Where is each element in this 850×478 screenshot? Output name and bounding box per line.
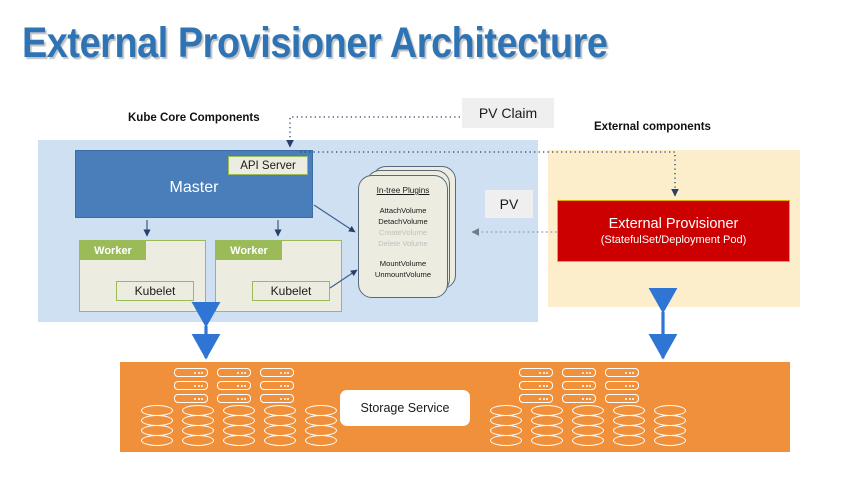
pv-claim-label: PV Claim: [462, 98, 554, 128]
server-rack-column: [260, 368, 294, 403]
plugin-op: DetachVolume: [358, 216, 448, 227]
in-tree-plugins-title: In-tree Plugins: [358, 185, 448, 196]
external-components-caption: External components: [594, 121, 711, 133]
server-rack-icon: [562, 394, 596, 403]
server-rack-icon: [217, 394, 251, 403]
plugin-op: CreateVolume: [358, 227, 448, 238]
kubelet-box-2: Kubelet: [252, 281, 330, 301]
server-rack-icon: [562, 381, 596, 390]
plugin-ops-upper: AttachVolume DetachVolume CreateVolume D…: [358, 205, 448, 249]
api-server-box: API Server: [228, 156, 308, 175]
disk-stack-icon: [613, 405, 645, 449]
disk-stack-icon: [182, 405, 214, 449]
pv-label: PV: [485, 190, 533, 218]
page-title: External Provisioner Architecture: [22, 18, 608, 68]
disk-stack-icon: [490, 405, 522, 449]
master-label: Master: [76, 179, 312, 197]
server-rack-column: [605, 368, 639, 403]
worker-node-1: Worker Kubelet: [79, 240, 206, 312]
disk-stack-icon: [264, 405, 296, 449]
server-rack-icon: [562, 368, 596, 377]
server-rack-icon: [260, 394, 294, 403]
disk-stack-group-right: [490, 405, 686, 449]
server-rack-icon: [605, 394, 639, 403]
server-rack-icon: [174, 368, 208, 377]
server-rack-icon: [605, 368, 639, 377]
disk-stack-icon: [572, 405, 604, 449]
server-rack-group-right: [519, 368, 639, 403]
server-rack-icon: [519, 381, 553, 390]
disk-stack-icon: [223, 405, 255, 449]
server-rack-icon: [217, 368, 251, 377]
diagram-canvas: External Provisioner Architecture Kube C…: [0, 0, 850, 478]
server-rack-column: [562, 368, 596, 403]
external-provisioner-subtitle: (StatefulSet/Deployment Pod): [601, 233, 747, 247]
server-rack-icon: [174, 394, 208, 403]
worker-2-header: Worker: [216, 241, 282, 260]
disk-stack-icon: [305, 405, 337, 449]
server-rack-icon: [217, 381, 251, 390]
server-rack-icon: [174, 381, 208, 390]
disk-stack-group-left: [141, 405, 337, 449]
server-rack-icon: [519, 368, 553, 377]
disk-stack-icon: [141, 405, 173, 449]
plugin-ops-spacer: [358, 249, 448, 258]
plugin-op: AttachVolume: [358, 205, 448, 216]
plugin-op: Delete Volume: [358, 238, 448, 249]
external-provisioner-box: External Provisioner (StatefulSet/Deploy…: [557, 200, 790, 262]
server-rack-group-left: [174, 368, 294, 403]
plugin-op: UnmountVolume: [358, 269, 448, 280]
plugin-ops-lower: MountVolume UnmountVolume: [358, 258, 448, 280]
plugin-op: MountVolume: [358, 258, 448, 269]
worker-1-header: Worker: [80, 241, 146, 260]
kube-core-components-caption: Kube Core Components: [128, 112, 260, 124]
in-tree-plugins-content: In-tree Plugins AttachVolume DetachVolum…: [358, 175, 448, 298]
server-rack-icon: [519, 394, 553, 403]
disk-stack-icon: [654, 405, 686, 449]
disk-stack-icon: [531, 405, 563, 449]
server-rack-icon: [260, 368, 294, 377]
server-rack-column: [519, 368, 553, 403]
server-rack-icon: [605, 381, 639, 390]
worker-node-2: Worker Kubelet: [215, 240, 342, 312]
server-rack-icon: [260, 381, 294, 390]
kubelet-box-1: Kubelet: [116, 281, 194, 301]
external-provisioner-title: External Provisioner: [609, 215, 739, 233]
server-rack-column: [217, 368, 251, 403]
storage-service-box: Storage Service: [340, 390, 470, 426]
server-rack-column: [174, 368, 208, 403]
